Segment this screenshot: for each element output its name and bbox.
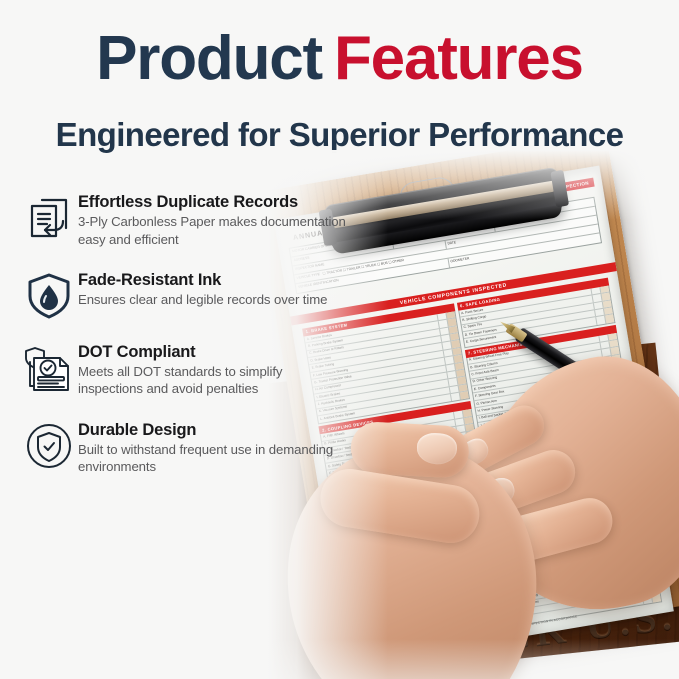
feature-list: Effortless Duplicate Records 3-Ply Carbo… [20, 192, 350, 497]
feature-description: 3-Ply Carbonless Paper makes documentati… [78, 213, 350, 247]
feature-title: DOT Compliant [78, 343, 350, 362]
feature-item-dot-compliant: DOT Compliant Meets all DOT standards to… [20, 342, 350, 398]
feature-title: Durable Design [78, 421, 350, 440]
feature-title: Fade-Resistant Ink [78, 271, 350, 290]
photo-fade-bottom [268, 639, 679, 679]
product-features-page: ProductFeatures Engineered for Superior … [0, 0, 679, 679]
feature-item-duplicate-records: Effortless Duplicate Records 3-Ply Carbo… [20, 192, 350, 248]
page-title-word-2: Features [334, 24, 583, 93]
page-title: ProductFeatures [0, 28, 679, 90]
feature-description: Meets all DOT standards to simplify insp… [78, 363, 350, 397]
page-title-word-1: Product [96, 24, 322, 93]
feature-item-durable-design: Durable Design Built to withstand freque… [20, 420, 350, 476]
left-thumbnail [416, 432, 458, 465]
duplicate-documents-icon [20, 192, 78, 242]
feature-description: Built to withstand frequent use in deman… [78, 441, 350, 475]
feature-item-fade-resistant-ink: Fade-Resistant Ink Ensures clear and leg… [20, 270, 350, 320]
shield-ink-drop-icon [20, 270, 78, 320]
feature-title: Effortless Duplicate Records [78, 193, 350, 212]
feature-description: Ensures clear and legible records over t… [78, 291, 350, 308]
page-subtitle: Engineered for Superior Performance [0, 116, 679, 154]
circle-shield-check-icon [20, 420, 78, 470]
document-shield-check-icon [20, 342, 78, 394]
